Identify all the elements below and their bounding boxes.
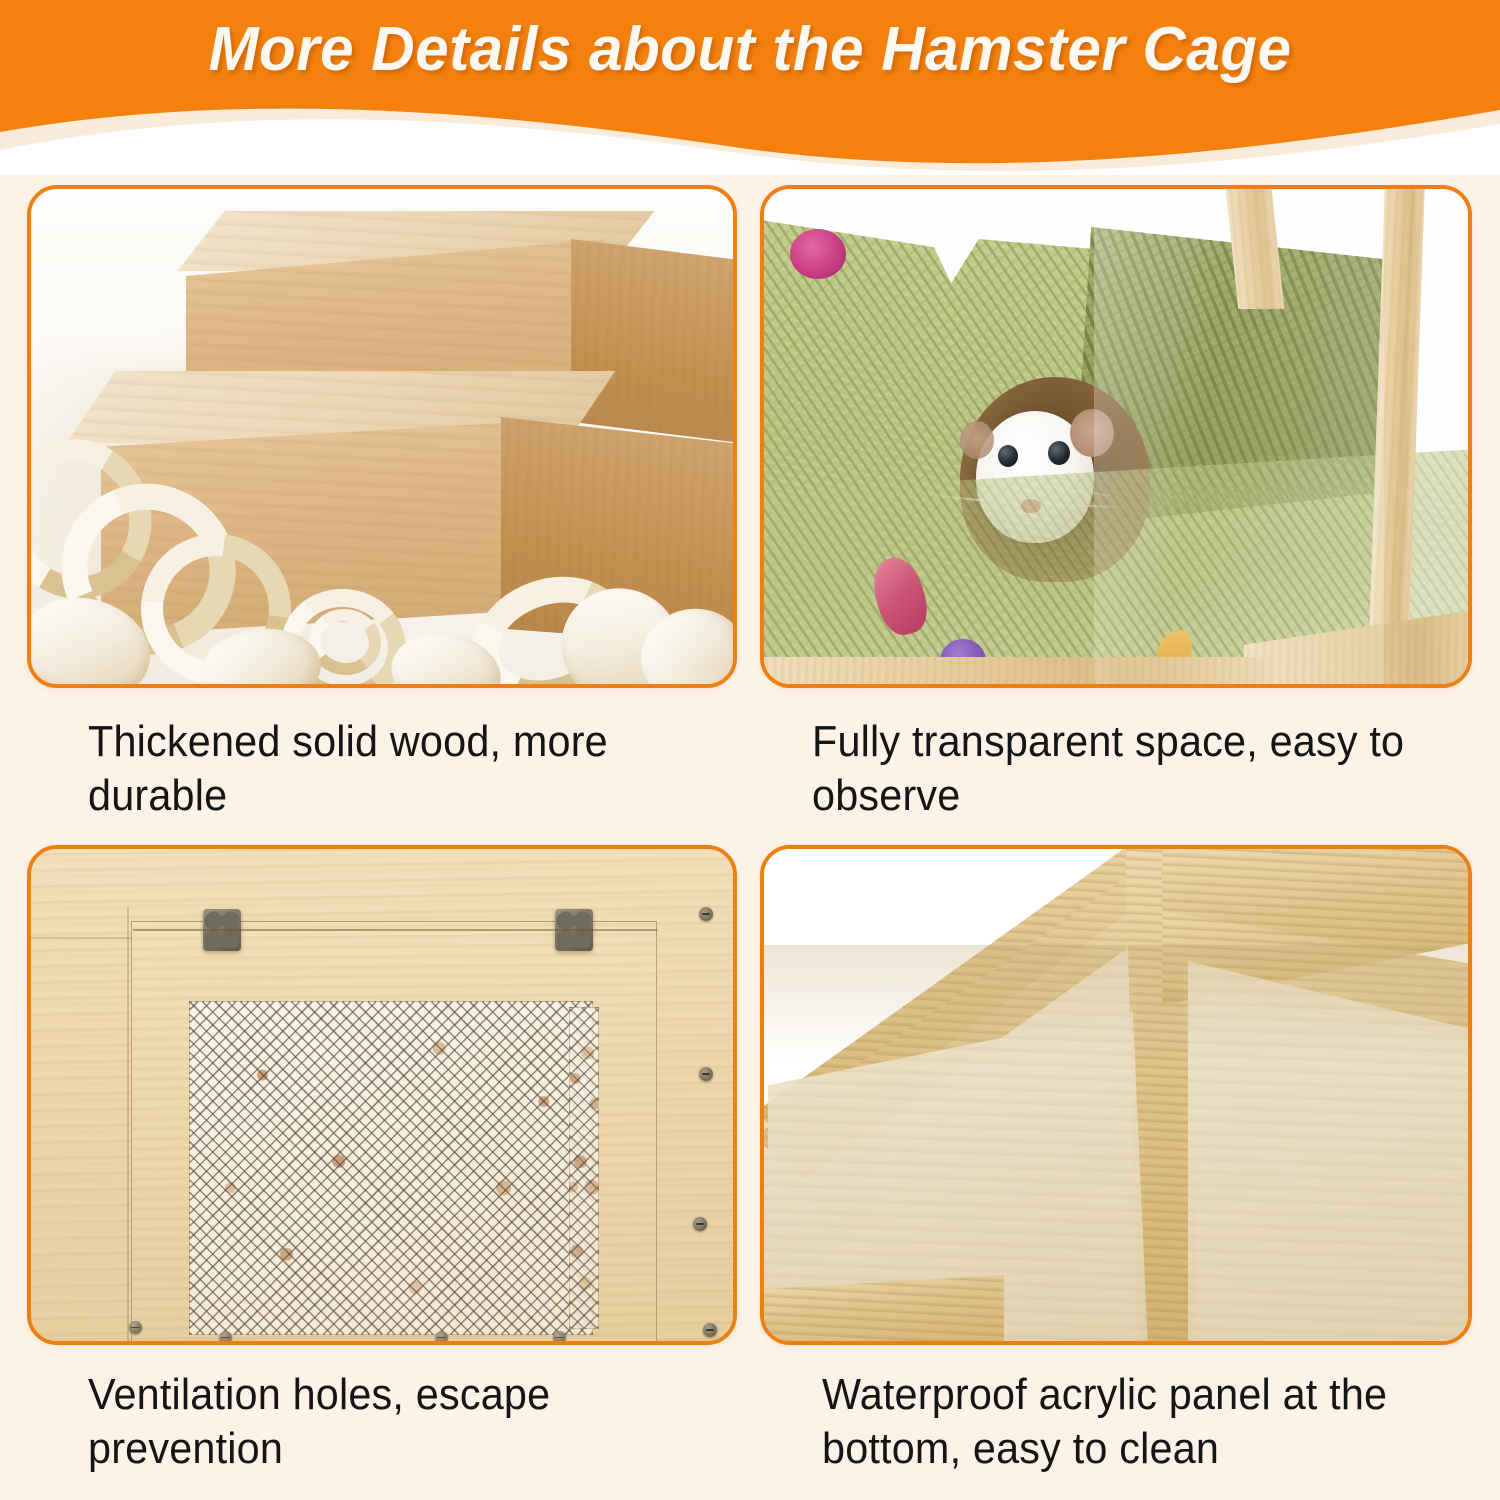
panel-shading (764, 945, 1472, 1065)
door-latch-upper[interactable] (367, 1343, 419, 1345)
wood-block-upper-end-grain (571, 239, 737, 454)
feature-caption-thickened-solid-wood: Thickened solid wood, more durable (88, 715, 708, 822)
screw (553, 1331, 566, 1344)
feature-image-thickened-solid-wood (27, 185, 737, 688)
feature-image-ventilation-holes (27, 845, 737, 1345)
dried-flower-pink (790, 229, 846, 279)
ventilation-door-photo (31, 849, 733, 1341)
ventilation-mesh-edge (569, 1007, 599, 1329)
feature-caption-ventilation-holes: Ventilation holes, escape prevention (88, 1368, 708, 1475)
screw (219, 1331, 232, 1344)
header-banner: More Details about the Hamster Cage (0, 0, 1500, 175)
ventilation-mesh-screen (189, 1001, 593, 1335)
screw (699, 1067, 713, 1081)
page-title: More Details about the Hamster Cage (23, 14, 1478, 85)
hamster-eye (998, 445, 1018, 467)
acrylic-panel-reflection (1094, 189, 1384, 688)
feature-caption-waterproof-acrylic-panel: Waterproof acrylic panel at the bottom, … (822, 1368, 1461, 1475)
hamster-eye (1048, 441, 1070, 465)
screw (129, 1321, 142, 1334)
acrylic-panel-photo (764, 849, 1468, 1341)
screw (435, 1331, 448, 1344)
feature-image-fully-transparent-space (760, 185, 1472, 688)
screw (693, 1217, 707, 1231)
board-seam (31, 937, 133, 939)
screw (699, 907, 713, 921)
feature-image-waterproof-acrylic-panel (760, 845, 1472, 1345)
door-top-gap (133, 929, 657, 931)
transparent-cage-photo (764, 189, 1468, 684)
feature-caption-fully-transparent-space: Fully transparent space, easy to observe (812, 715, 1442, 822)
wood-blocks-photo (31, 189, 733, 684)
screw (703, 1323, 717, 1337)
board-seam (127, 907, 129, 1345)
hamster-ear (960, 421, 994, 459)
